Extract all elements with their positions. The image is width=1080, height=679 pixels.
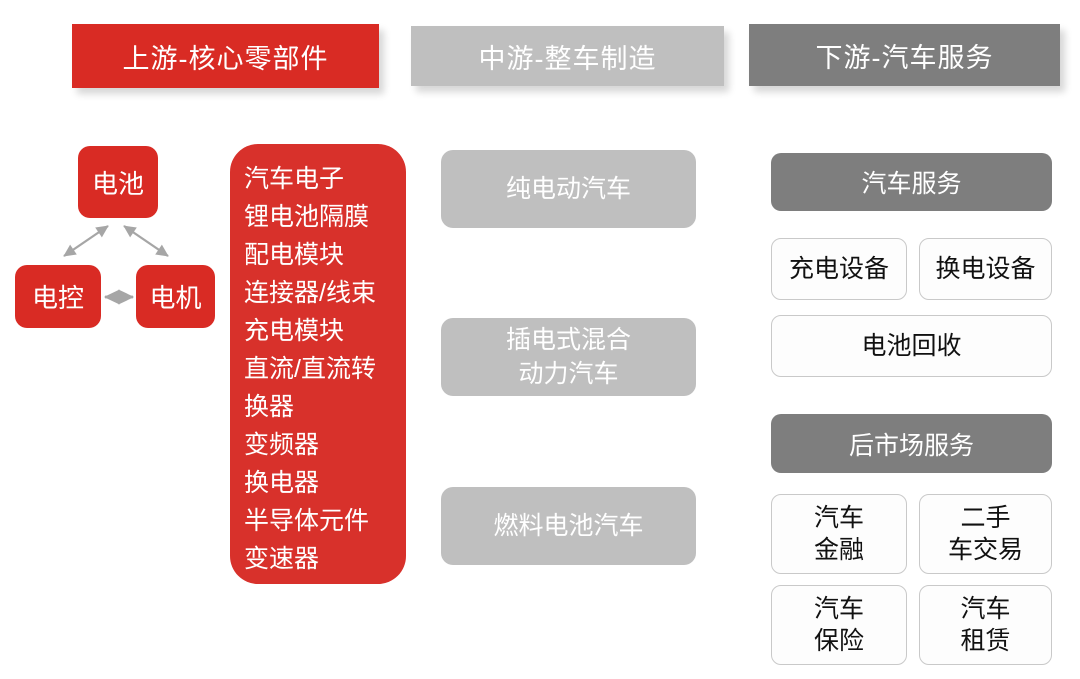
list-item: 直流/直流转	[244, 350, 406, 388]
list-item: 换电器	[244, 464, 406, 502]
midstream-item-fcev[interactable]: 燃料电池汽车	[441, 487, 696, 565]
group-header-auto-service: 汽车服务	[771, 153, 1052, 211]
card-charging-equipment[interactable]: 充电设备	[771, 238, 907, 300]
list-item: 变频器	[244, 426, 406, 464]
card-used-car-trading[interactable]: 二手 车交易	[919, 494, 1052, 574]
list-item: 变速器	[244, 540, 406, 578]
diagram-canvas: 上游-核心零部件 中游-整车制造 下游-汽车服务 电池 电控 电机 汽车电子 锂…	[0, 0, 1080, 679]
card-battery-swap-equipment[interactable]: 换电设备	[919, 238, 1052, 300]
midstream-item-bev[interactable]: 纯电动汽车	[441, 150, 696, 228]
list-item: 充电模块	[244, 312, 406, 350]
node-battery[interactable]: 电池	[78, 146, 158, 218]
list-item: 锂电池隔膜	[244, 198, 406, 236]
card-auto-leasing[interactable]: 汽车 租赁	[919, 585, 1052, 665]
card-battery-recycling[interactable]: 电池回收	[771, 315, 1052, 377]
column-header-midstream: 中游-整车制造	[411, 26, 724, 86]
list-item: 半导体元件	[244, 502, 406, 540]
list-item: 汽车电子	[244, 160, 406, 198]
list-item: 换器	[244, 388, 406, 426]
column-header-upstream: 上游-核心零部件	[72, 24, 379, 88]
card-auto-finance[interactable]: 汽车 金融	[771, 494, 907, 574]
column-header-downstream: 下游-汽车服务	[749, 24, 1060, 86]
midstream-item-phev[interactable]: 插电式混合 动力汽车	[441, 318, 696, 396]
upstream-component-list: 汽车电子 锂电池隔膜 配电模块 连接器/线束 充电模块 直流/直流转 换器 变频…	[230, 144, 406, 584]
card-auto-insurance[interactable]: 汽车 保险	[771, 585, 907, 665]
list-item: 连接器/线束	[244, 274, 406, 312]
node-motor[interactable]: 电机	[136, 265, 215, 328]
node-electronic-control[interactable]: 电控	[15, 265, 101, 328]
list-ellipsis: ······	[244, 578, 406, 614]
group-header-aftermarket-service: 后市场服务	[771, 414, 1052, 473]
list-item: 配电模块	[244, 236, 406, 274]
